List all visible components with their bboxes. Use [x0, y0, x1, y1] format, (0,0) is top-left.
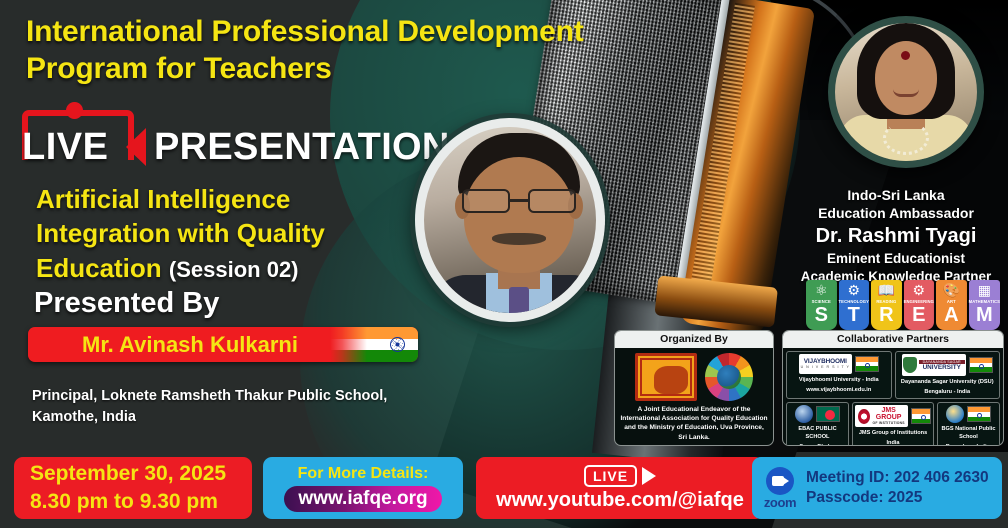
reading-icon: 📖 — [878, 283, 895, 297]
youtube-url[interactable]: www.youtube.com/@iafqe — [496, 489, 744, 512]
stream-badge-engineering: ⚙ ENGINEERING E — [904, 280, 935, 330]
presenter-avatar — [415, 118, 605, 322]
webinar-poster: International Professional Development P… — [0, 0, 1008, 528]
live-triangle-icon — [126, 128, 146, 166]
science-icon: ⚛ — [815, 283, 828, 297]
presenter-role: Principal, Loknete Ramsheth Thakur Publi… — [32, 386, 402, 428]
live-label: LIVE — [22, 128, 108, 166]
iaqe-logo-icon — [705, 353, 753, 401]
stream-letter: M — [976, 305, 993, 325]
program-title: International Professional Development P… — [26, 14, 596, 87]
dsu-logo-icon: DAYANANDA SAGAR UNIVERSITY — [902, 354, 966, 376]
zoom-passcode: Passcode: 2025 — [806, 488, 989, 508]
art-icon: 🎨 — [943, 283, 960, 297]
partner-logo-top: DAYANANDA SAGAR — [919, 360, 965, 364]
engineering-icon: ⚙ — [913, 283, 926, 297]
ambassador-line1: Indo-Sri Lanka — [790, 186, 1002, 204]
presenter-name: Mr. Avinash Kulkarni — [82, 332, 298, 358]
jms-logo-icon: JMS GROUP OF INSTITUTIONS — [855, 405, 908, 427]
zoom-box: zoom Meeting ID: 202 406 2630 Passcode: … — [752, 457, 1002, 519]
ambassador-line2: Education Ambassador — [790, 204, 1002, 222]
video-camera-icon — [766, 467, 794, 495]
zoom-label: zoom — [764, 495, 796, 510]
organized-caption-line2: International Association for Quality Ed… — [619, 414, 769, 423]
organized-caption-line1: A Joint Educational Endeavor of the — [619, 405, 769, 414]
collaborative-partners-heading: Collaborative Partners — [783, 331, 1003, 348]
partner-logo-sub: U N I V E R S I T Y — [801, 365, 850, 369]
partners-row-top: VIJAYBHOOMI U N I V E R S I T Y Vijaybho… — [783, 348, 1003, 402]
stream-badge-science: ⚛ SCIENCE S — [806, 280, 837, 330]
program-title-line2: Program for Teachers — [26, 51, 596, 88]
more-details-box[interactable]: For More Details: www.iafqe.org — [263, 457, 463, 519]
partner-name-line2: Bengaluru, India. — [940, 443, 997, 446]
play-icon — [642, 467, 656, 485]
partner-logo-sub: OF INSTITUTIONS — [872, 421, 905, 425]
topic-line1: Artificial Intelligence — [36, 182, 436, 216]
partners-row-bottom: EBAC PUBLIC SCHOOL Savar, Dhaka, Banglad… — [783, 402, 1003, 446]
organized-by-card: Organized By A Joint Educational Endeavo… — [614, 330, 774, 446]
ambassador-name: Dr. Rashmi Tyagi — [790, 223, 1002, 249]
partner-logo-text: UNIVERSITY — [919, 364, 965, 371]
footer-bar: September 30, 2025 8.30 pm to 9.30 pm Fo… — [0, 452, 1008, 528]
partner-logo-row — [789, 405, 846, 423]
partner-name-line2: Savar, Dhaka, Bangladesh. — [789, 443, 846, 446]
partner-name-line1: Dayananda Sagar University (DSU) — [898, 378, 998, 386]
india-flag-icon — [969, 357, 993, 373]
avatar-face — [464, 157, 574, 273]
partner-name-line1: EBAC PUBLIC SCHOOL — [789, 425, 846, 441]
bgs-logo-icon — [946, 405, 964, 423]
ambassador-info: Indo-Sri Lanka Education Ambassador Dr. … — [790, 186, 1002, 285]
partner-logo-row — [940, 405, 997, 423]
stream-letter: R — [879, 305, 893, 325]
stream-badge-art: 🎨 ART A — [936, 280, 967, 330]
ambassador-smile — [893, 89, 919, 97]
live-dot-icon — [66, 102, 83, 119]
partner-dayananda-sagar: DAYANANDA SAGAR UNIVERSITY Dayananda Sag… — [895, 351, 1001, 399]
india-flag-icon — [330, 327, 418, 362]
topic-line3-row: Education (Session 02) — [36, 251, 436, 285]
lion-icon — [654, 366, 688, 394]
avatar-tie — [509, 287, 529, 322]
event-time: 8.30 pm to 9.30 pm — [30, 488, 252, 516]
presenter-role-line1: Principal, Loknete Ramsheth Thakur Publi… — [32, 386, 402, 407]
zoom-brand: zoom — [758, 467, 802, 510]
partner-logo-row: VIJAYBHOOMI U N I V E R S I T Y — [789, 354, 889, 374]
presenter-role-line2: Kamothe, India — [32, 407, 402, 428]
partner-name-line1: Vijaybhoomi University - India — [789, 376, 889, 384]
partner-name-line2: India — [855, 439, 931, 446]
website-link[interactable]: www.iafqe.org — [284, 486, 441, 512]
technology-icon: ⚙ — [848, 283, 861, 297]
partner-name-line2: Bengaluru - India — [898, 388, 998, 396]
partner-name-line1: BGS National Public School — [940, 425, 997, 441]
partner-name-line2: www.vijaybhoomi.edu.in — [789, 386, 889, 394]
stream-badge-reading: 📖 READING R — [871, 280, 902, 330]
sri-lanka-emblem-icon — [635, 353, 697, 401]
jms-seal-icon — [858, 409, 870, 424]
topic-block: Artificial Intelligence Integration with… — [36, 182, 436, 285]
partner-bgs-national: BGS National Public School Bengaluru, In… — [937, 402, 1000, 446]
date-time-box: September 30, 2025 8.30 pm to 9.30 pm — [14, 457, 252, 519]
ambassador-avatar — [828, 16, 984, 168]
stream-badge-mathematics: ▦ MATHEMATICS M — [969, 280, 1000, 330]
more-details-label: For More Details: — [298, 465, 429, 483]
dsu-shield-icon — [903, 357, 917, 373]
stream-letter: T — [848, 305, 860, 325]
stream-letter: E — [912, 305, 925, 325]
organized-by-caption: A Joint Educational Endeavor of the Inte… — [615, 405, 773, 442]
youtube-box[interactable]: LIVE www.youtube.com/@iafqe — [476, 457, 764, 519]
collaborative-partners-card: Collaborative Partners VIJAYBHOOMI U N I… — [782, 330, 1004, 446]
live-badge: LIVE — [22, 124, 150, 170]
bangladesh-flag-icon — [816, 406, 840, 422]
partner-name-line1: JMS Group of Institutions — [855, 429, 931, 437]
zoom-credentials: Meeting ID: 202 406 2630 Passcode: 2025 — [806, 468, 989, 508]
india-flag-icon — [967, 406, 991, 422]
stream-letter: A — [944, 305, 958, 325]
stream-letter: S — [815, 305, 828, 325]
partner-vijaybhoomi: VIJAYBHOOMI U N I V E R S I T Y Vijaybho… — [786, 351, 892, 399]
mathematics-icon: ▦ — [978, 283, 991, 297]
program-title-line1: International Professional Development — [26, 14, 596, 51]
topic-line3: Education — [36, 253, 162, 283]
india-flag-icon — [855, 356, 879, 372]
ebac-logo-icon — [795, 405, 813, 423]
partner-logo-row: JMS GROUP OF INSTITUTIONS — [855, 405, 931, 427]
organized-by-heading: Organized By — [615, 331, 773, 348]
stream-badges: ⚛ SCIENCE S ⚙ TECHNOLOGY T 📖 READING R ⚙… — [806, 280, 1000, 330]
vijaybhoomi-logo-icon: VIJAYBHOOMI U N I V E R S I T Y — [799, 354, 852, 374]
avatar-glasses-icon — [460, 189, 578, 215]
organized-caption-line3: and the Ministry of Education, Uva Provi… — [619, 423, 769, 441]
youtube-live-badge: LIVE — [584, 465, 656, 487]
ambassador-bindi — [901, 51, 910, 60]
ambassador-necklace — [883, 121, 929, 155]
india-flag-icon — [911, 408, 931, 424]
topic-line2: Integration with Quality — [36, 216, 436, 250]
partner-logo-row: DAYANANDA SAGAR UNIVERSITY — [898, 354, 998, 376]
ambassador-line4: Eminent Educationist — [790, 250, 1002, 268]
event-date: September 30, 2025 — [30, 460, 252, 488]
zoom-meeting-id: Meeting ID: 202 406 2630 — [806, 468, 989, 488]
youtube-live-label: LIVE — [584, 465, 637, 487]
ashoka-chakra-icon — [390, 337, 405, 352]
organized-by-logos — [615, 353, 773, 401]
stream-badge-technology: ⚙ TECHNOLOGY T — [839, 280, 870, 330]
presented-by-label: Presented By — [34, 287, 219, 320]
topic-session: (Session 02) — [169, 257, 299, 282]
partner-logo-text: JMS GROUP — [872, 407, 905, 421]
avatar-moustache — [492, 233, 546, 245]
partner-jms-group: JMS GROUP OF INSTITUTIONS JMS Group of I… — [852, 402, 934, 446]
partner-ebac: EBAC PUBLIC SCHOOL Savar, Dhaka, Banglad… — [786, 402, 849, 446]
